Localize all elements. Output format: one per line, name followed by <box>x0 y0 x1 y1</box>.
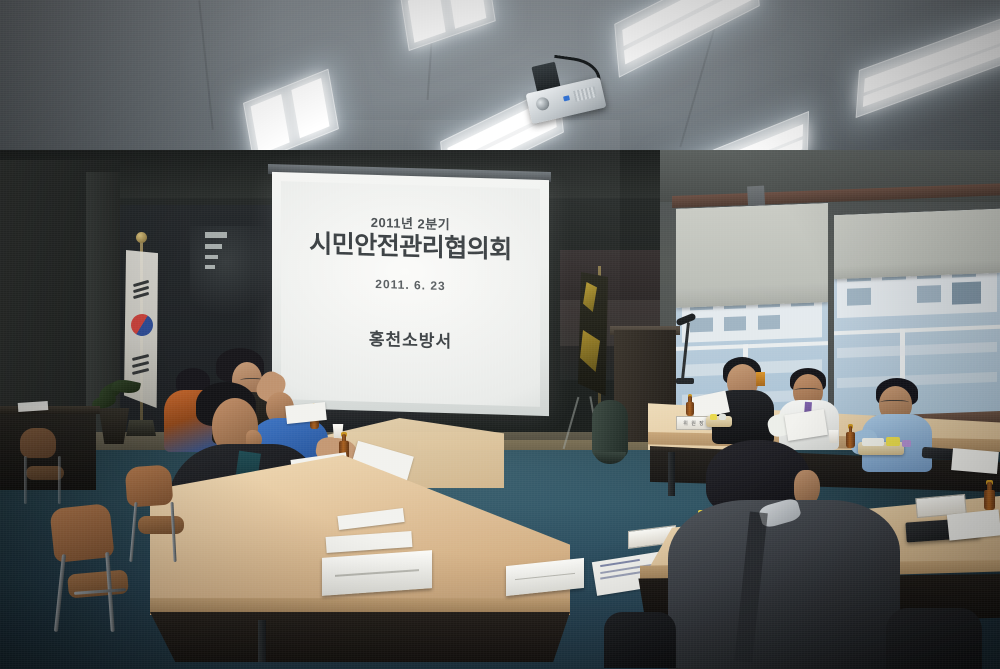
snack-item <box>719 414 726 420</box>
uniform-shoulder-patch <box>756 372 765 386</box>
slide-organization: 홍천소방서 <box>369 324 452 351</box>
floor-vase <box>592 400 628 458</box>
folding-chair[interactable] <box>14 428 76 508</box>
building-outside <box>837 372 996 389</box>
snack-item <box>902 440 911 447</box>
document-sheet <box>951 448 999 474</box>
table-leg <box>258 620 266 662</box>
paper-cup <box>828 430 839 443</box>
cabinet-top <box>0 406 100 414</box>
slide-content: 2011년 2분기 시민안전관리협의회 2011. 6. 23 홍천소방서 <box>281 181 540 407</box>
projector-indicator <box>563 95 570 101</box>
meeting-room-photo: 2011년 2분기 시민안전관리협의회 2011. 6. 23 홍천소방서 <box>0 0 1000 669</box>
slide-subtitle: 2011년 2분기 <box>371 212 450 233</box>
beverage-bottle <box>984 482 995 510</box>
folding-chair[interactable] <box>876 604 996 669</box>
snack-item <box>886 437 900 446</box>
projection-screen: 2011년 2분기 시민안전관리협의회 2011. 6. 23 홍천소방서 <box>272 172 549 416</box>
building-outside <box>837 342 996 359</box>
slide-date: 2011. 6. 23 <box>375 276 445 292</box>
document-sheet <box>947 509 1000 540</box>
window-blind[interactable] <box>834 209 1000 280</box>
glasses-icon <box>880 400 909 406</box>
slide-title: 시민안전관리협의회 <box>309 231 512 265</box>
snack-item <box>862 438 884 446</box>
table-edge <box>150 598 570 614</box>
table-leg <box>668 452 675 496</box>
folding-chair[interactable] <box>604 606 714 669</box>
beverage-bottle <box>686 396 694 416</box>
glasses-icon <box>794 388 821 394</box>
wall-signage <box>205 232 245 280</box>
projector-lens <box>535 96 551 112</box>
snack-item <box>710 414 717 420</box>
window-blind[interactable] <box>676 203 828 308</box>
flag-finial <box>136 232 147 243</box>
table-underside <box>150 612 570 662</box>
projector-vent <box>573 86 597 102</box>
microphone-base <box>676 378 694 384</box>
folding-chair[interactable] <box>118 466 196 566</box>
flag-stand <box>126 420 156 436</box>
document-booklet <box>322 550 432 596</box>
beverage-bottle <box>846 426 855 448</box>
